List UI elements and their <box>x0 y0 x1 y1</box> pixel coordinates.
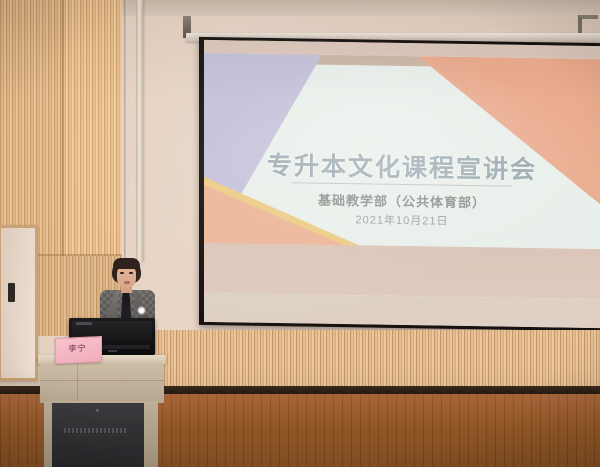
speaker-eye-left <box>120 272 124 274</box>
podium-vent-grille <box>64 428 126 433</box>
podium-body <box>40 363 164 403</box>
speaker-hair-fringe <box>113 258 140 269</box>
slide-footer-band <box>204 243 600 299</box>
speaker-brooch <box>138 307 145 314</box>
wood-slat-wainscot <box>122 330 600 388</box>
podium-panel-seam-vertical <box>77 363 78 403</box>
projected-slide: 专升本文化课程宣讲会 基础教学部（公共体育部） 2021年10月21日 <box>204 53 600 299</box>
wall-cabinet-handle[interactable] <box>8 283 15 302</box>
projection-screen: 专升本文化课程宣讲会 基础教学部（公共体育部） 2021年10月21日 <box>204 40 600 328</box>
wood-slat-panel-left-b <box>62 0 122 256</box>
speaker-mouth <box>124 281 130 284</box>
podium-equipment-bay[interactable] <box>52 403 144 467</box>
podium-monitor-power-button[interactable] <box>108 350 117 352</box>
slide-title: 专升本文化课程宣讲会 <box>204 145 600 187</box>
podium-name-card-text: 李宁 <box>55 342 100 355</box>
lecture-hall-scene: 专升本文化课程宣讲会 基础教学部（公共体育部） 2021年10月21日 李宁 <box>0 0 600 467</box>
podium-indicator-led <box>96 409 99 412</box>
podium-panel-seam <box>40 380 164 381</box>
podium-monitor-brand-mark <box>76 322 92 325</box>
slat-seam-vertical <box>62 0 64 256</box>
wall-conduit-pipe <box>136 0 143 262</box>
speaker-eye-right <box>129 272 133 274</box>
wall-cabinet-panel[interactable] <box>0 225 38 381</box>
